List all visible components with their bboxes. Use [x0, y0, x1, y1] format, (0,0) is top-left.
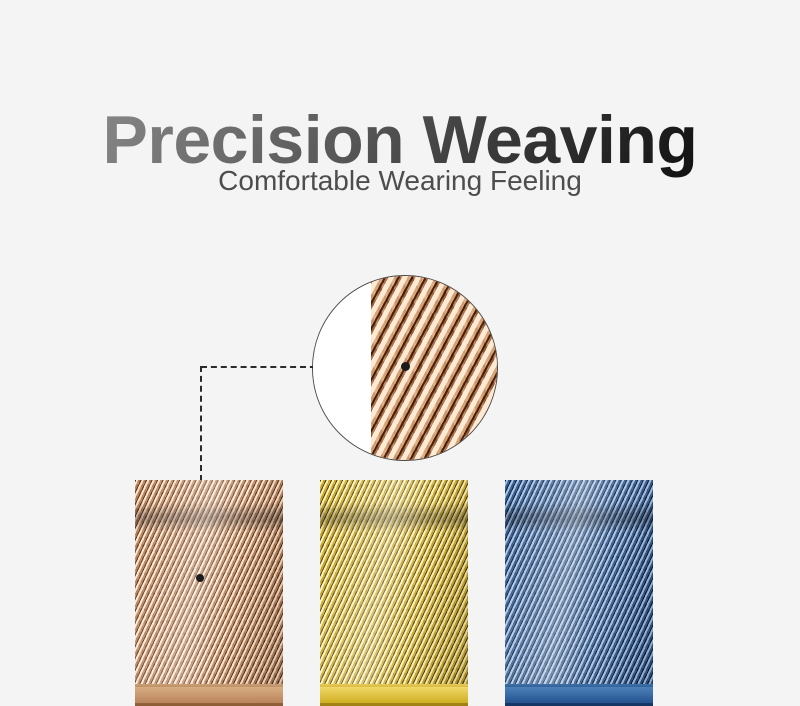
page-subtitle: Comfortable Wearing Feeling [0, 163, 800, 199]
gold-weave-texture [320, 480, 468, 706]
rose-gold-clasp [135, 684, 283, 706]
blue-clasp [505, 684, 653, 706]
rose-gold-weave-texture [135, 480, 283, 706]
blue-clasp-inner [505, 687, 653, 703]
magnifier-weave-texture [371, 276, 498, 460]
magnifier-blank-half [313, 276, 371, 460]
blue-weave-texture [505, 480, 653, 706]
callout-target-dot [196, 574, 204, 582]
gold-clasp-inner [320, 687, 468, 703]
product-banner: Precision Weaving Comfortable Wearing Fe… [0, 0, 800, 706]
gold-mesh-band [320, 480, 468, 706]
gold-clasp [320, 684, 468, 706]
callout-origin-dot [401, 362, 410, 371]
blue-mesh-band [505, 480, 653, 706]
rose-gold-clasp-inner [135, 687, 283, 703]
rose-gold-mesh-band [135, 480, 283, 706]
